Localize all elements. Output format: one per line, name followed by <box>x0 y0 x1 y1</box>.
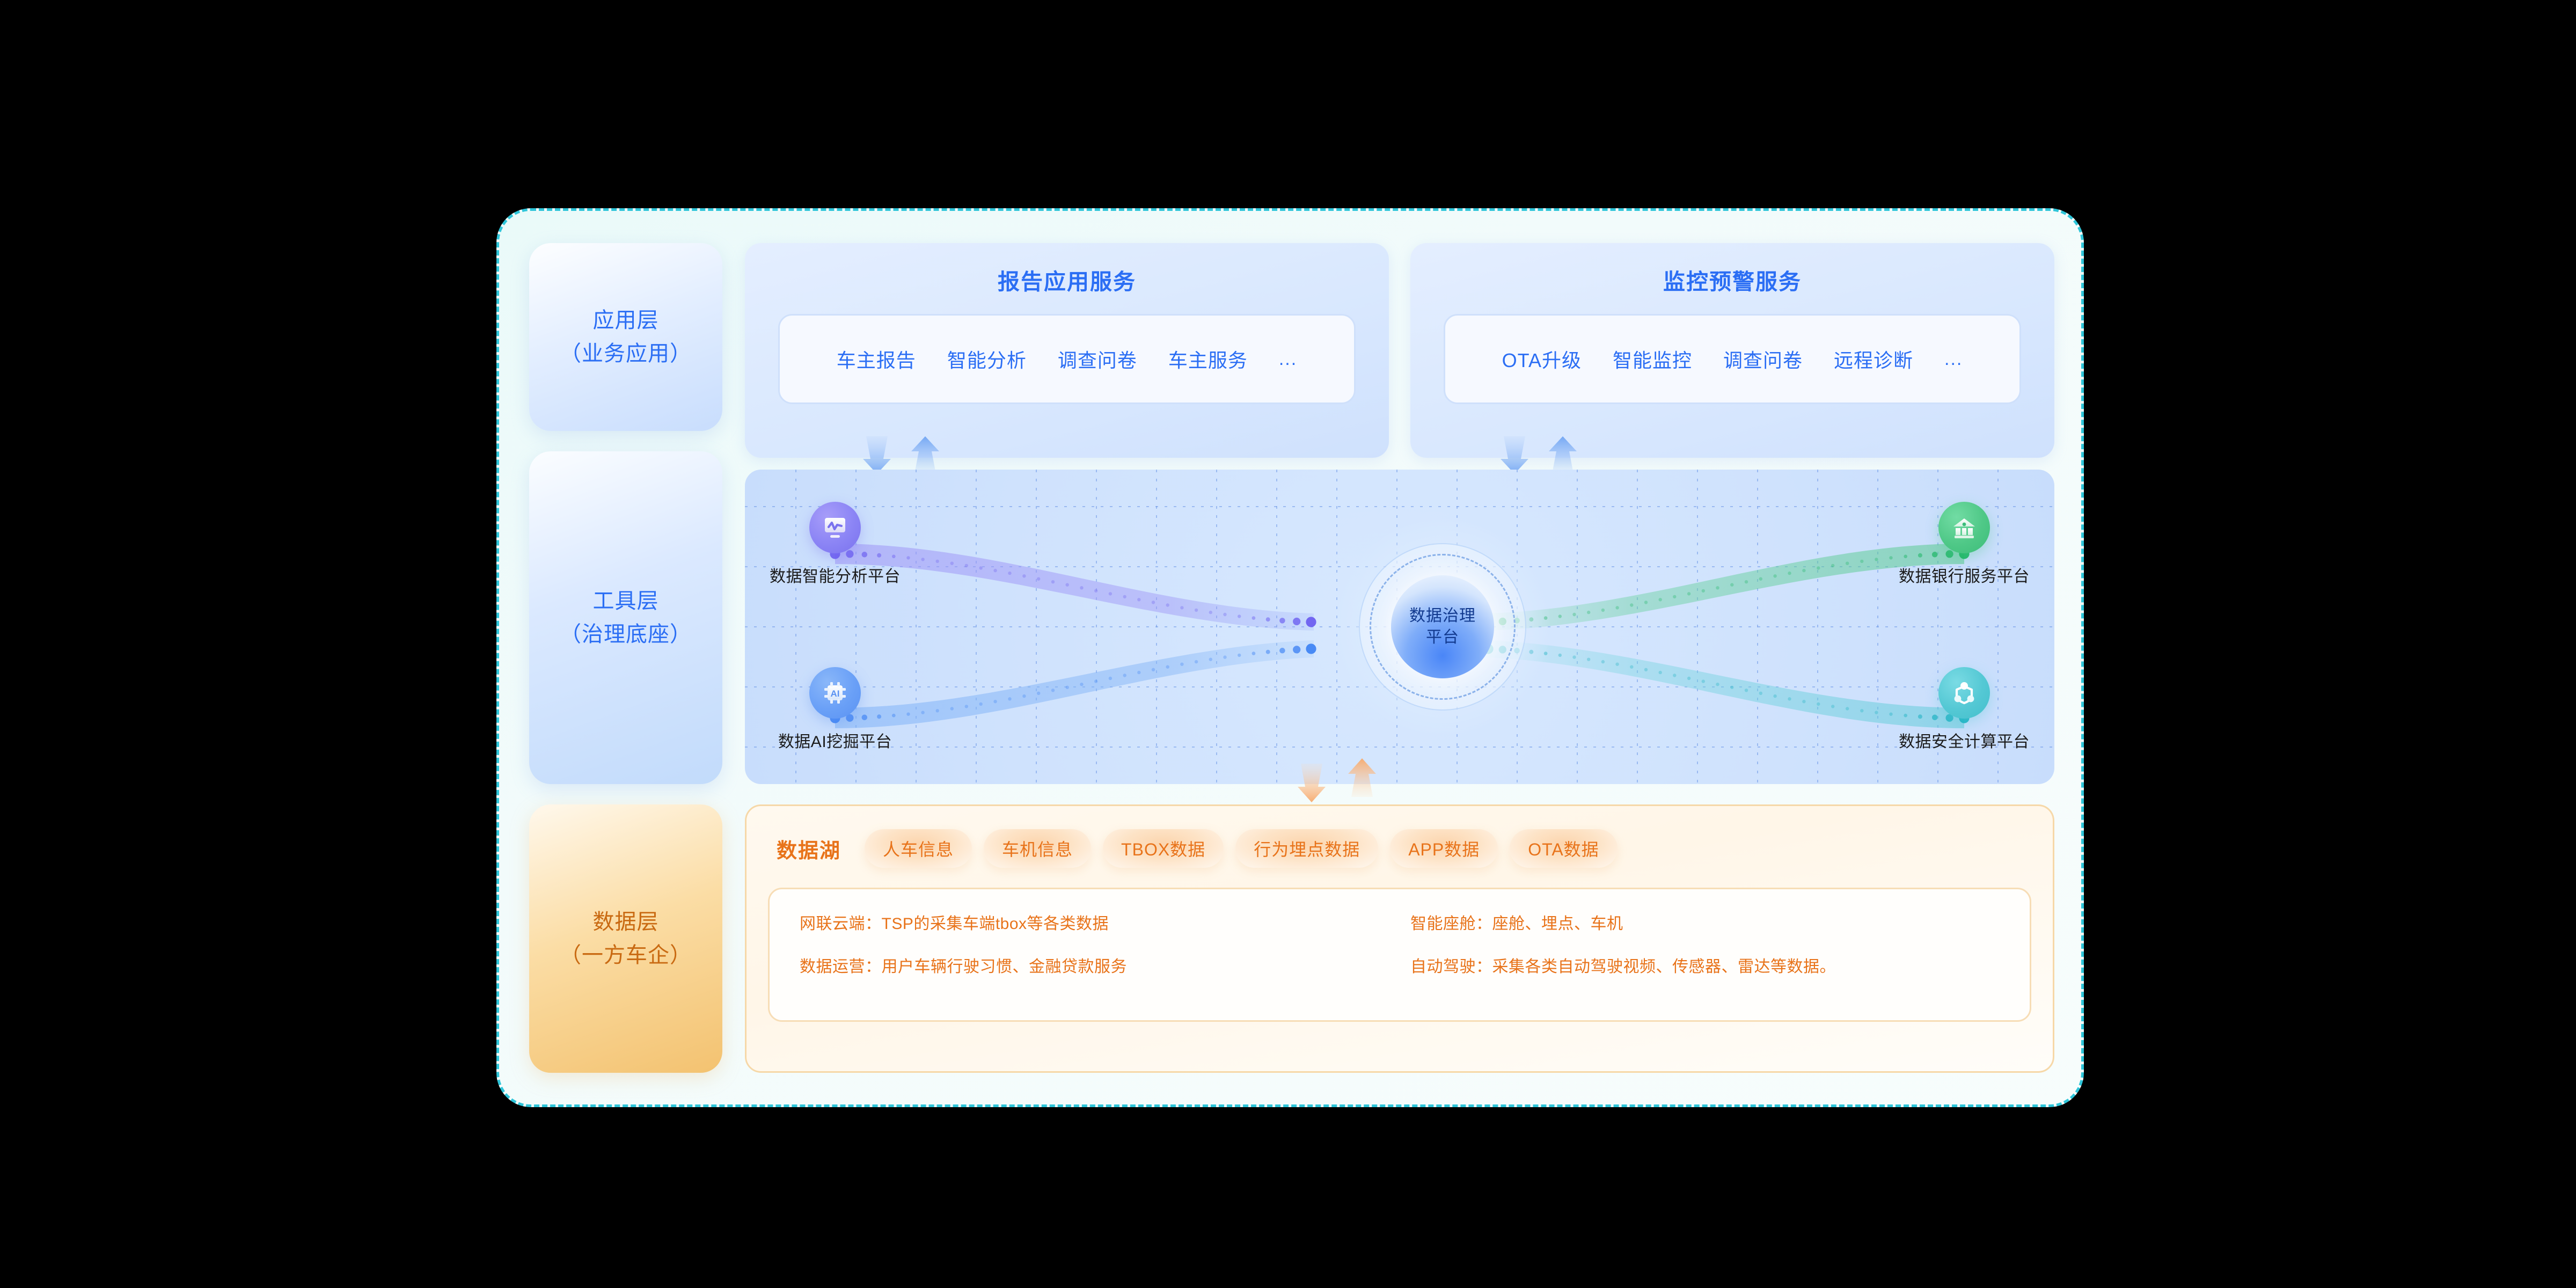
description-line: 自动驾驶：采集各类自动驾驶视频、传感器、雷达等数据。 <box>1410 957 2000 977</box>
node-label: 数据AI挖掘平台 <box>760 728 910 752</box>
sidebar-item-application-layer[interactable]: 应用层 （业务应用） <box>529 243 722 431</box>
hub-label: 数据治理 平台 <box>1409 605 1476 649</box>
data-lake-title: 数据湖 <box>777 834 841 863</box>
node-data-bank-service-platform[interactable]: 数据银行服务平台 <box>1889 502 2039 587</box>
app-chip-more[interactable]: ... <box>1279 349 1297 370</box>
data-lake-pill[interactable]: OTA数据 <box>1510 829 1617 868</box>
application-layer-band: 报告应用服务 车主报告 智能分析 调查问卷 车主服务 ... 监控预警服务 OT… <box>745 243 2054 458</box>
app-card-title: 报告应用服务 <box>745 264 1389 296</box>
app-chip-row: 车主报告 智能分析 调查问卷 车主服务 ... <box>778 314 1356 404</box>
app-chip[interactable]: 车主服务 <box>1168 345 1248 373</box>
app-chip-row: OTA升级 智能监控 调查问卷 远程诊断 ... <box>1444 314 2021 404</box>
data-lake-row: 数据湖 人车信息 车机信息 TBOX数据 行为埋点数据 APP数据 OTA数据 <box>768 825 2031 872</box>
app-card-report-service[interactable]: 报告应用服务 车主报告 智能分析 调查问卷 车主服务 ... <box>745 243 1389 458</box>
app-chip[interactable]: 远程诊断 <box>1834 345 1913 373</box>
connector-arrow-down-left <box>861 436 893 474</box>
node-label: 数据智能分析平台 <box>760 563 910 587</box>
data-lake-pill[interactable]: 人车信息 <box>865 829 972 868</box>
connector-arrow-up-right <box>1547 436 1579 474</box>
svg-text:AI: AI <box>831 689 840 699</box>
data-governance-platform-hub[interactable]: 数据治理 平台 <box>1335 519 1550 734</box>
data-source-description-box: 网联云端：TSP的采集车端tbox等各类数据 数据运营：用户车辆行驶习惯、金融贷… <box>768 888 2031 1022</box>
node-data-intelligent-analysis-platform[interactable]: 数据智能分析平台 <box>760 502 910 587</box>
data-lake-pill[interactable]: APP数据 <box>1390 829 1498 868</box>
rail-label-primary: 数据层 <box>593 905 659 939</box>
connector-arrow-down-right <box>1498 436 1531 474</box>
node-label: 数据银行服务平台 <box>1889 563 2039 587</box>
app-card-monitor-alert-service[interactable]: 监控预警服务 OTA升级 智能监控 调查问卷 远程诊断 ... <box>1410 243 2054 458</box>
description-line: 网联云端：TSP的采集车端tbox等各类数据 <box>800 914 1389 934</box>
hub-core: 数据治理 平台 <box>1391 575 1494 678</box>
app-chip[interactable]: 智能监控 <box>1613 345 1692 373</box>
description-line: 智能座舱：座舱、埋点、车机 <box>1410 914 2000 934</box>
rail-label-secondary: （一方车企） <box>560 939 692 972</box>
rail-label-secondary: （业务应用） <box>560 337 692 370</box>
app-chip[interactable]: 调查问卷 <box>1058 345 1137 373</box>
bank-icon <box>1938 502 1990 553</box>
data-lake-pill[interactable]: 行为埋点数据 <box>1235 829 1378 868</box>
hub-label-line1: 数据治理 <box>1409 607 1476 625</box>
monitor-chart-icon <box>809 502 861 553</box>
connector-arrow-down-data <box>1296 764 1328 802</box>
sidebar-item-tool-layer[interactable]: 工具层 （治理底座） <box>529 451 722 784</box>
connector-arrow-up-left <box>909 436 941 474</box>
node-data-ai-mining-platform[interactable]: AI 数据AI挖掘平台 <box>760 667 910 752</box>
data-lake-pill[interactable]: 车机信息 <box>984 829 1091 868</box>
app-chip[interactable]: OTA升级 <box>1502 345 1582 373</box>
hub-label-line2: 平台 <box>1426 628 1459 646</box>
rail-label-primary: 工具层 <box>593 584 659 618</box>
data-layer-panel: 数据湖 人车信息 车机信息 TBOX数据 行为埋点数据 APP数据 OTA数据 … <box>745 804 2054 1073</box>
app-chip[interactable]: 调查问卷 <box>1723 345 1803 373</box>
node-label: 数据安全计算平台 <box>1889 728 2039 752</box>
diagram-outer-frame: 应用层 （业务应用） 工具层 （治理底座） 数据层 （一方车企） 报告应用服务 … <box>496 208 2084 1107</box>
rail-label-primary: 应用层 <box>593 304 659 337</box>
tool-layer-canvas: 数据治理 平台 数 <box>745 470 2054 784</box>
connector-arrow-up-data <box>1346 758 1378 797</box>
data-lake-pill[interactable]: TBOX数据 <box>1103 829 1224 868</box>
ai-chip-icon: AI <box>809 667 861 719</box>
rail-label-secondary: （治理底座） <box>560 618 692 651</box>
description-column-left: 网联云端：TSP的采集车端tbox等各类数据 数据运营：用户车辆行驶习惯、金融贷… <box>800 914 1389 996</box>
description-line: 数据运营：用户车辆行驶习惯、金融贷款服务 <box>800 957 1389 977</box>
shield-node-icon <box>1938 667 1990 719</box>
app-chip-more[interactable]: ... <box>1944 349 1963 370</box>
description-column-right: 智能座舱：座舱、埋点、车机 自动驾驶：采集各类自动驾驶视频、传感器、雷达等数据。 <box>1389 914 2000 996</box>
app-card-title: 监控预警服务 <box>1410 264 2054 296</box>
sidebar-item-data-layer[interactable]: 数据层 （一方车企） <box>529 804 722 1073</box>
app-chip[interactable]: 智能分析 <box>947 345 1027 373</box>
app-chip[interactable]: 车主报告 <box>837 345 916 373</box>
node-data-security-computing-platform[interactable]: 数据安全计算平台 <box>1889 667 2039 752</box>
